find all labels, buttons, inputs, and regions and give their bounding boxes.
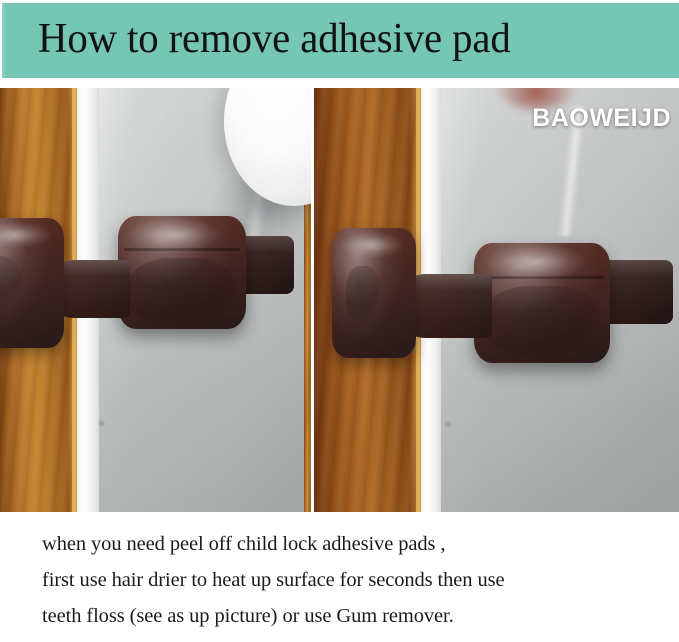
lock-pad-inset-left — [128, 258, 236, 324]
lock-pad-seam-right — [480, 276, 604, 279]
lock-pad-seam-left — [124, 248, 240, 251]
photo-strip: BAOWEIJD — [0, 88, 679, 512]
caption-line-1: when you need peel off child lock adhesi… — [42, 526, 659, 562]
caption-line-3: teeth floss (see as up picture) or use G… — [42, 598, 659, 634]
product-instruction-image: How to remove adhesive pad — [0, 0, 679, 642]
door-scuff-left — [99, 421, 104, 426]
lock-pad-inset-right — [484, 286, 600, 356]
door-scuff-right — [445, 422, 450, 427]
caption-block: when you need peel off child lock adhesi… — [0, 512, 679, 642]
lock-base-inset-right — [346, 266, 380, 322]
caption-line-2: first use hair drier to heat up surface … — [42, 562, 659, 598]
banner-edge-stripe — [2, 3, 5, 78]
header-banner: How to remove adhesive pad — [2, 3, 679, 78]
photo-left — [0, 88, 311, 512]
page-title: How to remove adhesive pad — [38, 18, 511, 64]
photo-right: BAOWEIJD — [314, 88, 679, 512]
brand-watermark: BAOWEIJD — [532, 104, 671, 133]
